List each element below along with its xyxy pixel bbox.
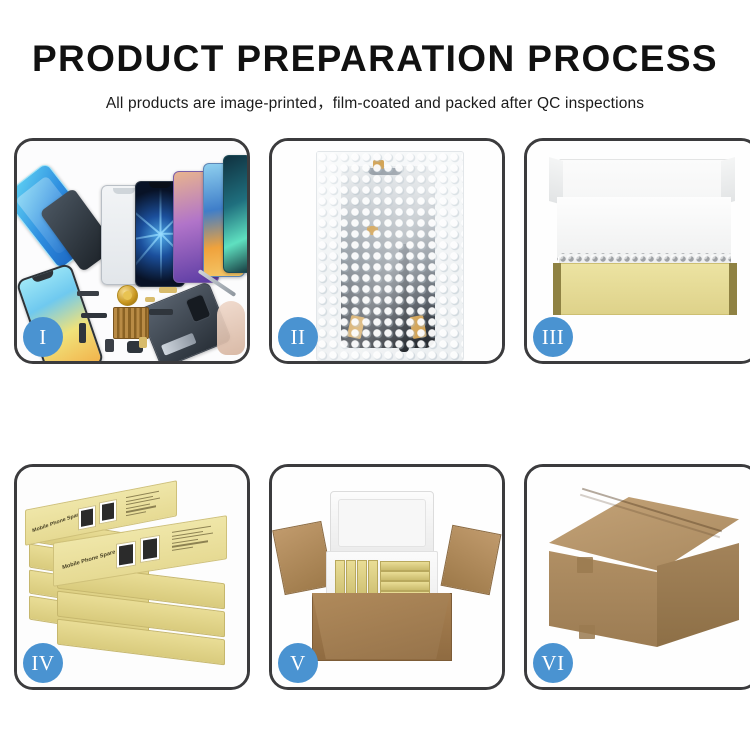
- step-panel-3: III: [524, 138, 750, 364]
- box-art-lines: [126, 490, 164, 519]
- box-art-lines: [172, 525, 216, 553]
- carton-flap-left: [272, 521, 334, 595]
- step-panel-2: II: [269, 138, 505, 364]
- camera-module-icon: [185, 293, 212, 323]
- plastic-sheen: [317, 152, 463, 360]
- step-panel-6: VI: [524, 464, 750, 690]
- battery-strip: [161, 333, 197, 356]
- gold-connector-part: [139, 337, 147, 348]
- box-art-swatch: [140, 535, 160, 563]
- yellow-box-inside: [380, 581, 430, 591]
- box-art-swatch: [99, 499, 117, 524]
- white-foam-backing: [557, 197, 731, 257]
- tape-patch: [577, 557, 593, 573]
- gold-connector-part: [159, 287, 177, 293]
- page-subtitle: All products are image-printed，film-coat…: [0, 79, 750, 113]
- step-badge-6: VI: [533, 643, 573, 683]
- styrofoam-lid: [330, 491, 434, 555]
- gold-coil-part: [117, 285, 138, 306]
- tape-patch: [579, 625, 595, 639]
- bubble-wrap-bag: [316, 151, 464, 361]
- yellow-box-base: [553, 263, 737, 315]
- flex-cable-part: [149, 309, 173, 315]
- yellow-box-inside: [380, 561, 430, 571]
- product-preparation-infographic: PRODUCT PREPARATION PROCESS All products…: [0, 0, 750, 750]
- process-steps-grid: I II: [14, 138, 736, 690]
- hand-holding-part: [217, 301, 245, 355]
- screw-grid-part: [113, 307, 149, 339]
- step-badge-4: IV: [23, 643, 63, 683]
- page-title: PRODUCT PREPARATION PROCESS: [0, 0, 750, 79]
- header: PRODUCT PREPARATION PROCESS All products…: [0, 0, 750, 113]
- small-chip-part: [77, 291, 99, 296]
- small-chip-part: [105, 339, 114, 352]
- step-panel-1: I: [14, 138, 250, 364]
- step-badge-3: III: [533, 317, 573, 357]
- step-badge-1: I: [23, 317, 63, 357]
- step-badge-2: II: [278, 317, 318, 357]
- box-art-swatch: [116, 541, 136, 569]
- carton-front-face: [312, 593, 450, 659]
- carton-flap-right: [441, 525, 502, 595]
- step-panel-4: Mobile Phone Spare Parts Mobile Phone Sp…: [14, 464, 250, 690]
- yellow-box-inside: [380, 571, 430, 581]
- box-art-swatch: [78, 505, 96, 530]
- flex-cable-part: [79, 323, 86, 343]
- step-badge-5: V: [278, 643, 318, 683]
- gold-connector-part: [145, 297, 155, 302]
- phone-teal-gradient: [223, 155, 247, 273]
- step-panel-5: V: [269, 464, 505, 690]
- flex-cable-part: [81, 313, 107, 318]
